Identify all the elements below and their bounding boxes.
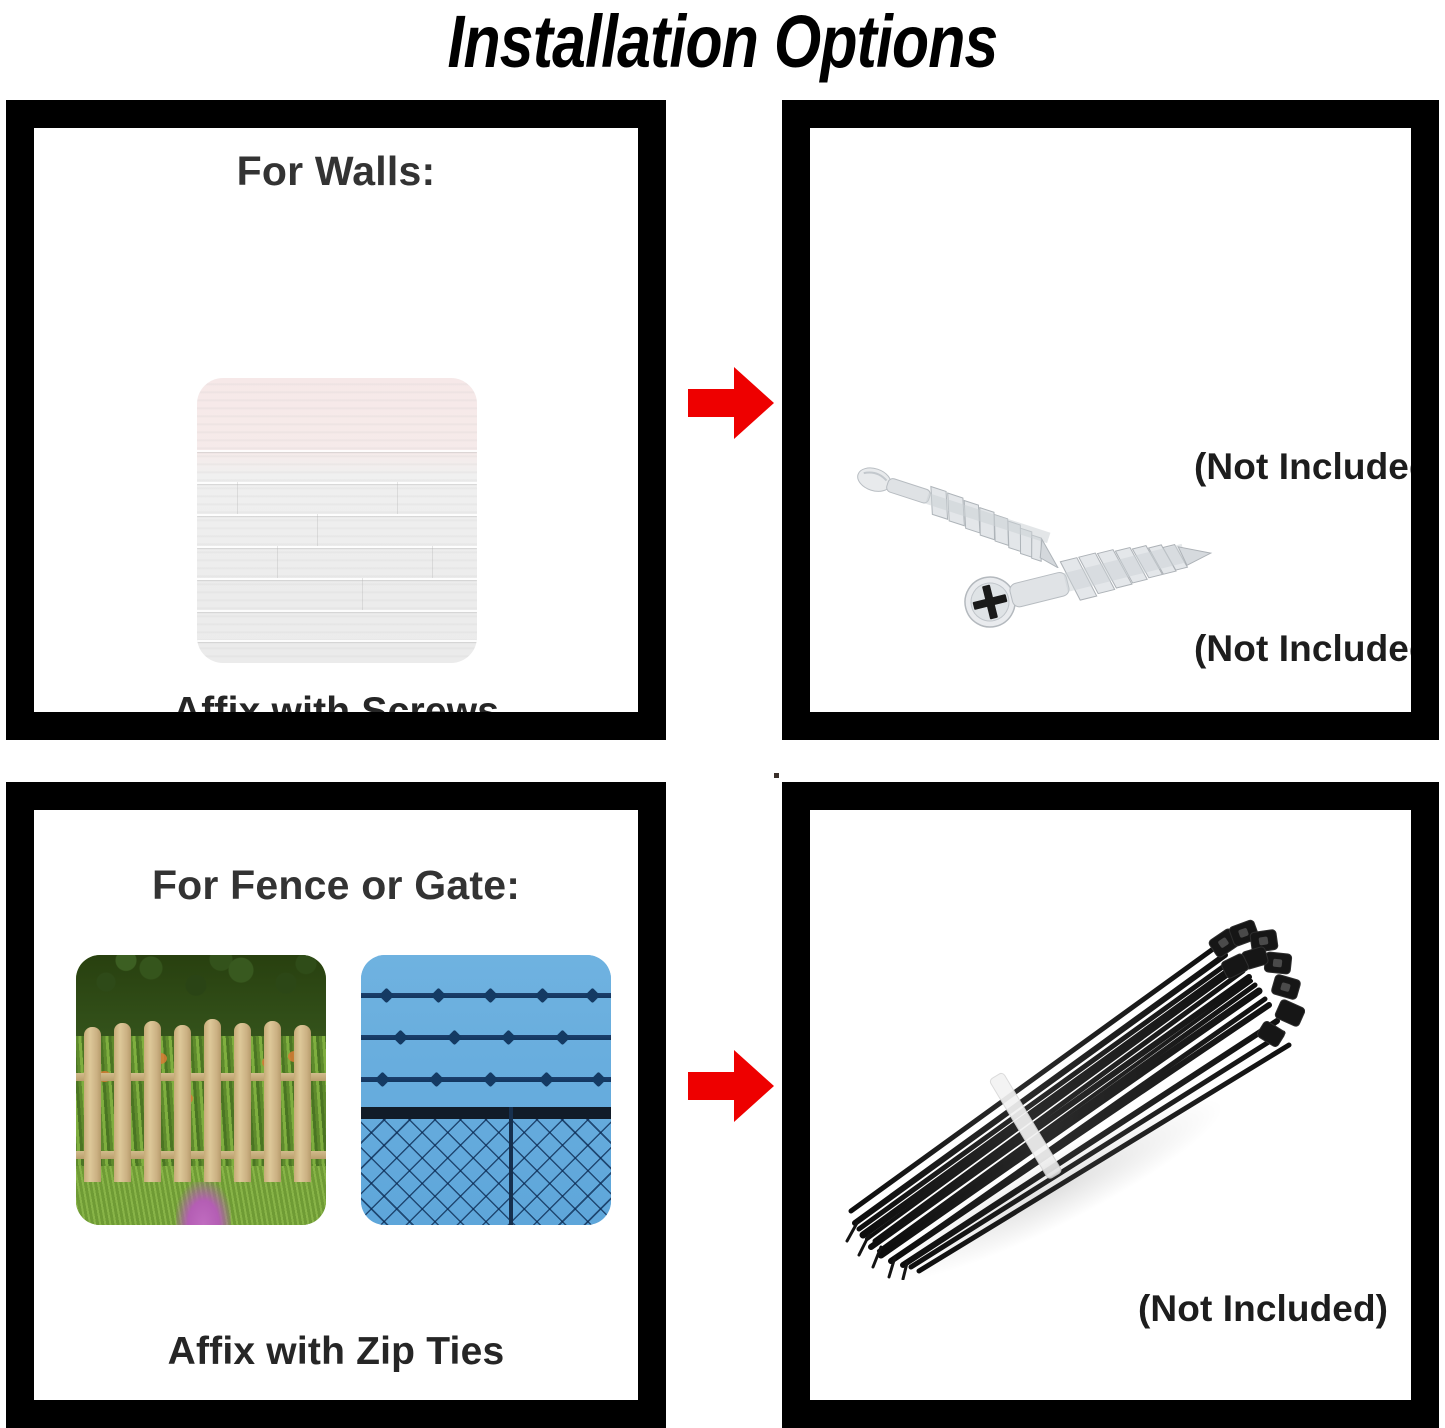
black-zip-tie-bundle-image [845, 905, 1305, 1280]
chain-link-fence-photo [361, 955, 611, 1225]
zip-ties-not-included-label: (Not Included) [1138, 1288, 1388, 1330]
wooden-picket-fence-photo [76, 955, 326, 1225]
fence-post [509, 1107, 513, 1225]
wall-grain-texture [197, 378, 477, 663]
panel-wall-hardware: (Not Included) [782, 100, 1439, 740]
red-right-arrow-icon-bottom [688, 1048, 774, 1124]
tape-not-included-label: (Not Included) [1194, 446, 1411, 488]
wood-screw-lower-phillips-icon [950, 540, 1220, 660]
panel-for-walls-content: For Walls: Affix with Screws or Double S… [34, 128, 638, 712]
chain-link-mesh [361, 1119, 611, 1225]
panel-for-walls: For Walls: Affix with Screws or Double S… [6, 100, 666, 740]
panel-wall-hardware-content: (Not Included) [810, 128, 1411, 712]
for-fence-or-gate-heading: For Fence or Gate: [34, 862, 638, 909]
white-brick-wall-image [197, 378, 477, 663]
page-title: Installation Options [130, 0, 1315, 86]
screws-not-included-label: (Not Included) [1194, 628, 1411, 670]
image-artifact-dot [774, 773, 779, 778]
for-walls-caption-line-1: Affix with Screws [34, 690, 638, 712]
fence-top-rail [361, 1107, 611, 1119]
for-fence-or-gate-caption: Affix with Zip Ties [34, 1330, 638, 1374]
garden-path [176, 1182, 231, 1225]
red-right-arrow-icon-top [688, 365, 774, 441]
for-walls-heading: For Walls: [34, 148, 638, 195]
